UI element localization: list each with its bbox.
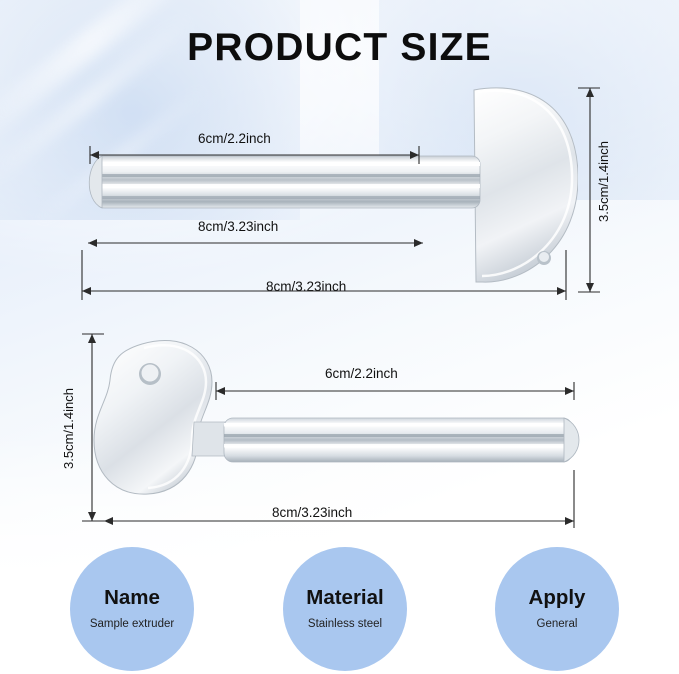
top-extruder-tool-image <box>78 78 578 308</box>
info-card-title: Material <box>306 588 383 609</box>
info-card-name: Name Sample extruder <box>70 547 194 671</box>
info-card-apply: Apply General <box>495 547 619 671</box>
info-card-subtitle: General <box>537 618 578 630</box>
product-size-infographic: PRODUCT SIZE <box>0 0 679 674</box>
top-shaft-length-label: 8cm/3.23inch <box>198 219 278 234</box>
info-card-material: Material Stainless steel <box>283 547 407 671</box>
page-title: PRODUCT SIZE <box>0 26 679 70</box>
info-card-subtitle: Sample extruder <box>90 618 174 630</box>
top-handle-length-label: 6cm/2.2inch <box>198 131 271 146</box>
bottom-bar-length-label: 6cm/2.2inch <box>325 366 398 381</box>
top-overall-length-label: 8cm/3.23inch <box>266 279 346 294</box>
info-card-subtitle: Stainless steel <box>308 618 382 630</box>
top-blade-height-label: 3.5cm/1.4inch <box>597 122 612 242</box>
info-card-title: Name <box>104 588 160 609</box>
bottom-handle-height-label: 3.5cm/1.4inch <box>62 369 77 489</box>
info-card-title: Apply <box>529 588 586 609</box>
bottom-overall-length-label: 8cm/3.23inch <box>272 505 352 520</box>
